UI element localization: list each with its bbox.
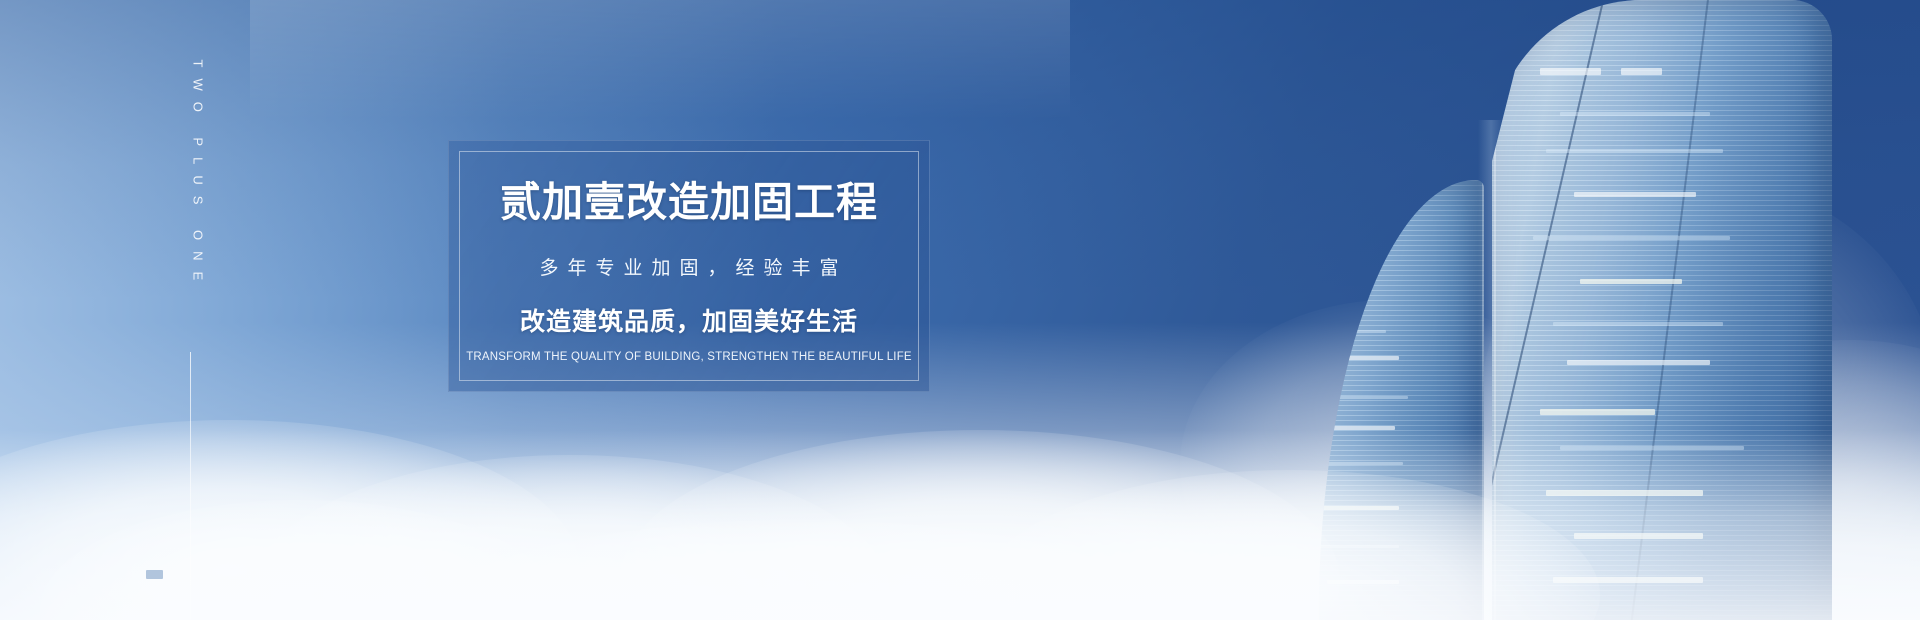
panel-subtitle: 多年专业加固，经验丰富 <box>530 253 847 280</box>
panel-content: 贰加壹改造加固工程 多年专业加固，经验丰富 改造建筑品质，加固美好生活 TRAN… <box>449 141 929 391</box>
window-band <box>1546 149 1723 153</box>
cloud-floor <box>0 430 1920 620</box>
window-band <box>1533 236 1730 240</box>
vertical-brand-text: TWO PLUS ONE <box>191 60 206 260</box>
window-band <box>1567 360 1710 365</box>
window-band <box>1540 68 1601 75</box>
window-band <box>1553 322 1723 326</box>
cloud-wisp <box>250 0 1070 120</box>
panel-slogan-english: TRANSFORM THE QUALITY OF BUILDING, STREN… <box>466 351 912 363</box>
panel-slogan: 改造建筑品质，加固美好生活 <box>520 302 858 338</box>
hero-text-panel: 贰加壹改造加固工程 多年专业加固，经验丰富 改造建筑品质，加固美好生活 TRAN… <box>448 140 930 392</box>
brand-mark <box>146 570 163 579</box>
window-band <box>1580 279 1682 284</box>
window-band <box>1297 330 1386 333</box>
window-band <box>1306 396 1408 399</box>
brand-divider-line <box>190 352 191 620</box>
window-band <box>1560 112 1710 116</box>
hero-banner: TWO PLUS ONE 贰加壹改造加固工程 多年专业加固，经验丰富 改造建筑品… <box>0 0 1920 620</box>
window-band <box>1540 409 1656 415</box>
window-band <box>1621 68 1662 75</box>
window-band <box>1310 294 1365 298</box>
window-band <box>1574 192 1696 197</box>
page-title: 贰加壹改造加固工程 <box>500 182 878 223</box>
brand-rail: TWO PLUS ONE <box>182 0 184 620</box>
window-band <box>1336 356 1400 360</box>
